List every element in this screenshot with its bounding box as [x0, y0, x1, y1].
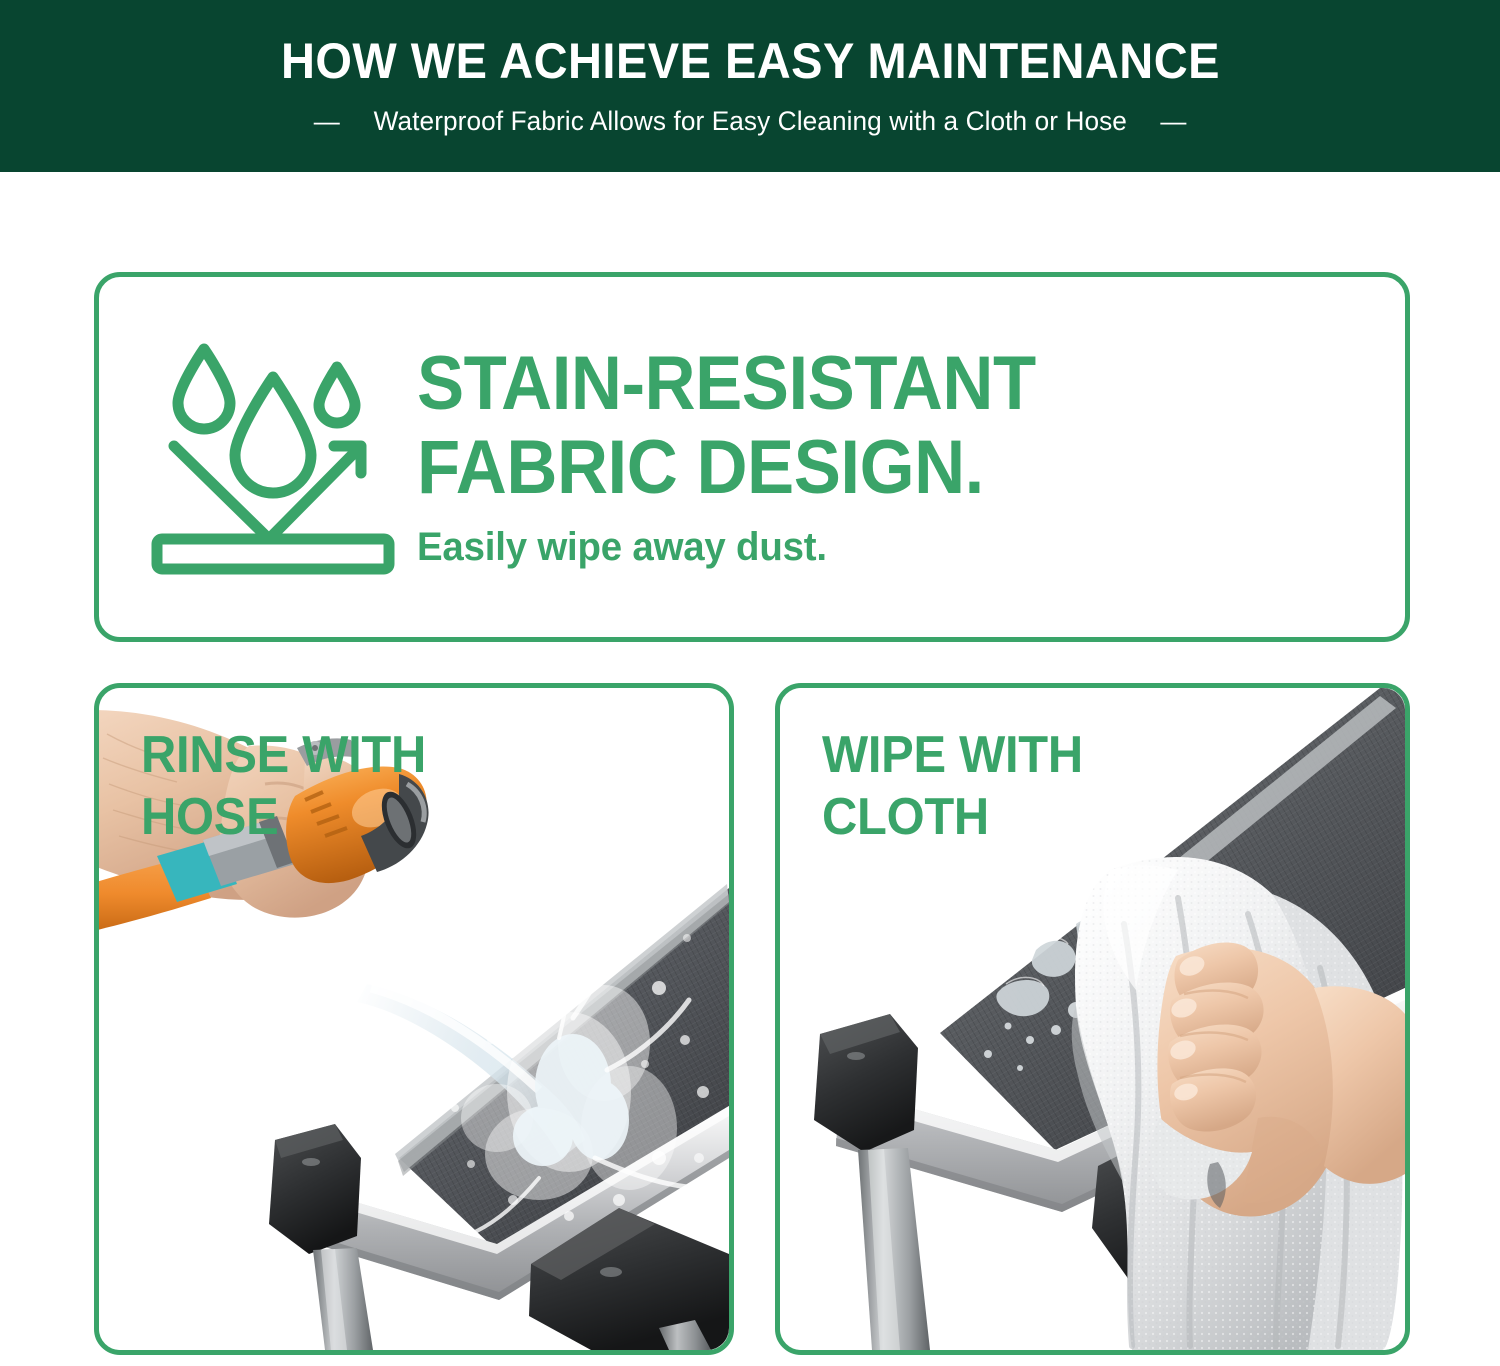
page-subtitle: Waterproof Fabric Allows for Easy Cleani… — [373, 106, 1126, 137]
wipe-with-cloth-heading: WIPE WITH CLOTH — [822, 724, 1083, 848]
dash-left-decoration: — — [314, 108, 340, 134]
rinse-with-hose-panel: RINSE WITH HOSE — [94, 683, 734, 1355]
page-subtitle-row: — Waterproof Fabric Allows for Easy Clea… — [314, 106, 1187, 137]
page-title: HOW WE ACHIEVE EASY MAINTENANCE — [281, 36, 1220, 86]
stain-resistant-feature-card: STAIN-RESISTANT FABRIC DESIGN. Easily wi… — [94, 272, 1410, 642]
rinse-with-hose-heading: RINSE WITH HOSE — [141, 724, 426, 848]
feature-headline-line1: STAIN-RESISTANT — [417, 342, 1336, 426]
wipe-with-cloth-panel: WIPE WITH CLOTH — [775, 683, 1410, 1355]
feature-headline-line2: FABRIC DESIGN. — [417, 426, 1336, 510]
feature-text-block: STAIN-RESISTANT FABRIC DESIGN. Easily wi… — [399, 342, 1405, 572]
water-repellent-icon — [99, 333, 399, 581]
feature-subline: Easily wipe away dust. — [417, 522, 1365, 572]
page-header-banner: HOW WE ACHIEVE EASY MAINTENANCE — Waterp… — [0, 0, 1500, 172]
dash-right-decoration: — — [1160, 108, 1186, 134]
